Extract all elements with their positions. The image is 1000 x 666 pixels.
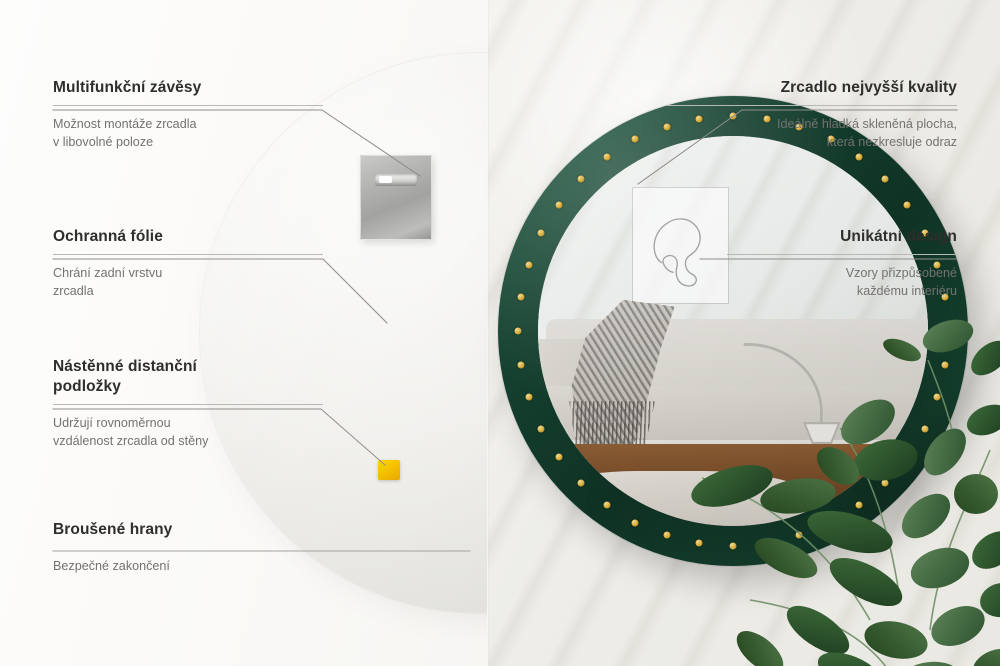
metal-hanging-bracket [360, 155, 432, 240]
gold-stud [903, 201, 910, 208]
callout-rule [53, 404, 323, 405]
gold-stud [515, 328, 522, 335]
gold-stud [525, 261, 532, 268]
callout-zrcadlo-nejvyssi-kvality: Zrcadlo nejvyšší kvality Ideálně hladká … [667, 78, 957, 152]
yellow-wall-spacer-pad [378, 460, 400, 480]
gold-stud [577, 480, 584, 487]
gold-stud [517, 361, 524, 368]
callout-description-line1: Udržují rovnoměrnou [53, 414, 323, 432]
callout-unikatni-design: Unikátní design Vzory přizpůsobené každé… [727, 227, 957, 301]
callout-title-line1: Nástěnné distanční [53, 357, 323, 377]
panel-seam-divider [487, 0, 489, 666]
gold-stud [632, 136, 639, 143]
infographic-stage: Multifunkční závěsy Možnost montáže zrca… [0, 0, 1000, 666]
gold-stud [577, 175, 584, 182]
gold-stud [525, 394, 532, 401]
callout-description-line2: která nezkresluje odraz [667, 133, 957, 151]
foliage-decoration [690, 300, 1000, 666]
callout-ochranna-folie: Ochranná fólie Chrání zadní vrstvu zrcad… [53, 227, 323, 301]
callout-rule [53, 105, 323, 106]
callout-rule [53, 254, 323, 255]
gold-stud [517, 294, 524, 301]
callout-title: Unikátní design [727, 227, 957, 247]
callout-title: Multifunkční závěsy [53, 78, 323, 98]
callout-description-line1: Možnost montáže zrcadla [53, 115, 323, 133]
callout-brousene-hrany: Broušené hrany Bezpečné zakončení [53, 520, 353, 575]
callout-rule [727, 254, 957, 255]
callout-description-line2: vzdálenost zrcadla od stěny [53, 432, 323, 450]
reflection-framed-artwork [632, 187, 730, 304]
gold-stud [882, 175, 889, 182]
bracket-keyhole-slot [375, 174, 417, 186]
callout-rule [53, 547, 353, 548]
callout-description-line2: zrcadla [53, 282, 323, 300]
callout-description-line2: v libovolné poloze [53, 133, 323, 151]
gold-stud [632, 519, 639, 526]
callout-description-line1: Ideálně hladká skleněná plocha, [667, 115, 957, 133]
callout-title: Ochranná fólie [53, 227, 323, 247]
callout-rule [667, 105, 957, 106]
gold-stud [856, 154, 863, 161]
gold-stud [556, 201, 563, 208]
callout-title-line2: podložky [53, 377, 323, 397]
callout-title: Zrcadlo nejvyšší kvality [667, 78, 957, 98]
gold-stud [663, 532, 670, 539]
callout-description-line1: Vzory přizpůsobené [727, 264, 957, 282]
callout-multifunkcni-zavesy: Multifunkční závěsy Možnost montáže zrca… [53, 78, 323, 152]
callout-nastenne-distancni-podlozky: Nástěnné distanční podložky Udržují rovn… [53, 357, 323, 450]
gold-stud [538, 425, 545, 432]
callout-description-line1: Chrání zadní vrstvu [53, 264, 323, 282]
gold-stud [556, 454, 563, 461]
gold-stud [603, 501, 610, 508]
callout-title: Broušené hrany [53, 520, 353, 540]
callout-description-line1: Bezpečné zakončení [53, 557, 353, 575]
gold-stud [603, 154, 610, 161]
gold-stud [538, 230, 545, 237]
callout-description-line2: každému interiéru [727, 282, 957, 300]
